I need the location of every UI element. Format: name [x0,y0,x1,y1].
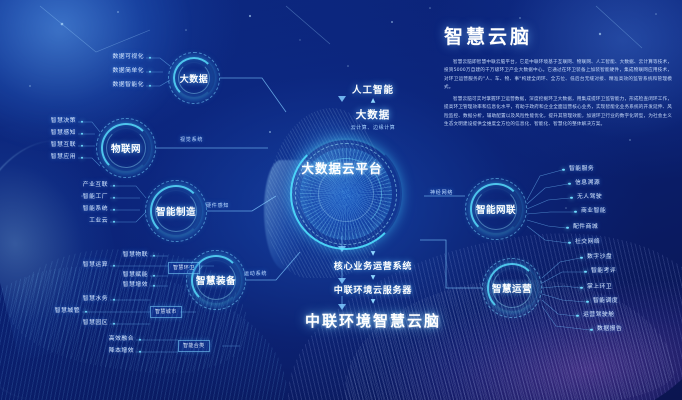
leaf-label-industrial-cloud: 工业云 [64,219,108,225]
leaf-label-cost-reduction: 降本增效 [90,349,134,355]
infographic-poster: 智慧云脑 智慧云脑即智慧中联云脑平台，它是中联环境基于互联网、物联网、人工智能、… [0,0,682,400]
link-label-vision-system: 视觉系统 [180,136,203,143]
title-block: 智慧云脑 智慧云脑即智慧中联云脑平台，它是中联环境基于互联网、物联网、人工智能、… [444,26,672,130]
center-top-captions: 人工智能 ▲ 大数据 云计算、边缘计算 [318,82,428,131]
node-iot[interactable]: 物联网 [96,118,156,178]
node-label-connected: 智能网联 [476,202,516,216]
wave-mesh-left [0,256,296,400]
node-label-manufacturing: 智能制造 [156,204,196,218]
node-manufacturing[interactable]: 智能制造 [145,180,207,242]
group-box-smart-city: 智慧城市 [150,306,182,318]
node-operation[interactable]: 智慧运营 [482,258,542,318]
leaf-label-digital-sandbox: 数字沙盘 [587,255,612,261]
center-caption-ai: 人工智能 [318,82,428,96]
leaf-label-smart-application: 智慧应用 [32,155,76,161]
group-box-smart-integration: 智能合类 [178,340,210,352]
central-hub[interactable] [290,138,402,250]
arrow-down-icon-2: ▼ [288,274,458,281]
leaf-label-smart-empowerment: 智慧赋能 [104,273,148,279]
node-label-equipment: 智慧装备 [196,273,236,287]
group-box-smart-sanitation: 智慧环卫 [168,262,200,274]
hub-label: 大数据云平台 [258,158,426,177]
leaf-label-social-network: 社交网络 [575,240,600,246]
leaf-label-data-report: 数据报告 [597,327,622,333]
leaf-label-smart-interconnect: 智慧互联 [32,143,76,149]
leaf-label-smart-city-mgmt: 智慧城管 [36,309,80,315]
description-body: 智慧云脑即智慧中联云脑平台，它是中联环境基于互联网、物联网、人工智能、大数据、云… [444,59,672,130]
leaf-label-smart-factory: 智能工厂 [64,195,108,201]
link-label-hardware-sensing: 硬件感知 [206,202,229,209]
arrow-up-icon: ▲ [318,98,428,105]
leaf-label-autonomous-driving: 无人驾驶 [577,195,602,201]
node-equipment[interactable]: 智慧装备 [186,250,246,310]
leaf-label-data-simplification: 数据简单化 [100,69,144,75]
leaf-label-data-visualization: 数据可视化 [100,55,144,61]
leaf-label-smart-iot: 智慧物联 [104,253,148,259]
node-label-iot: 物联网 [111,141,141,155]
center-final-label: 中联环境智慧云脑 [288,310,458,331]
center-caption-cloud-server: 中联环境云服务器 [288,283,458,296]
leaf-label-business-intelligence: 商业智能 [581,209,606,215]
leaf-label-smart-water: 智慧水务 [64,297,108,303]
link-label-neural-network: 神经网络 [430,189,453,196]
center-bottom-captions: ▼ 核心业务运营系统 ▼ 中联环境云服务器 ▼ 中联环境智慧云脑 [288,248,458,331]
leaf-label-smart-efficiency: 智慧增效 [104,283,148,289]
leaf-label-smart-decision: 智慧决策 [32,119,76,125]
node-connected-vehicles[interactable]: 智能网联 [465,178,527,240]
leaf-label-smart-computing: 智慧运算 [64,263,108,269]
arrow-down-icon-3: ▼ [288,298,458,305]
glow-top-left [0,0,190,150]
description-paragraph-1: 智慧云脑即智慧中联云脑平台，它是中联环境基于互联网、物联网、人工智能、大数据、云… [444,59,672,93]
leaf-label-smart-park: 智慧园区 [64,321,108,327]
leaf-label-smart-sensing: 智慧感知 [32,131,76,137]
node-label-bigdata: 大数据 [180,72,209,85]
leaf-label-smart-service: 智能服务 [569,167,594,173]
center-caption-bigdata: 大数据 [318,107,428,122]
arrow-down-icon-1: ▼ [288,250,458,257]
leaf-label-mobile-sanitation: 掌上环卫 [587,285,612,291]
leaf-label-parts-mall: 配件商城 [573,225,598,231]
link-label-motion-system: 运动系统 [244,270,267,277]
leaf-label-smart-assessment: 智能考评 [591,269,616,275]
leaf-label-data-intelligence: 数据智能化 [100,83,144,89]
node-bigdata[interactable]: 大数据 [168,52,220,104]
leaf-label-smart-dispatch: 智能调度 [593,299,618,305]
leaf-label-info-traceability: 信息溯源 [575,181,600,187]
page-title: 智慧云脑 [444,26,672,49]
leaf-label-operation-cockpit: 运营驾驶舱 [583,313,615,319]
center-caption-cloud-edge: 云计算、边缘计算 [318,124,428,131]
center-caption-core-system: 核心业务运营系统 [288,259,458,272]
node-label-operation: 智慧运营 [492,281,532,295]
leaf-label-industry-interconnect: 产业互联 [64,183,108,189]
leaf-label-smart-system: 智能系统 [64,207,108,213]
leaf-label-efficient-fusion: 高效融合 [90,337,134,343]
description-paragraph-2: 智慧云脑可实时掌握环卫运营数据，深度挖掘环卫大数据，用集成提环卫监管能力，形成检… [444,96,672,130]
